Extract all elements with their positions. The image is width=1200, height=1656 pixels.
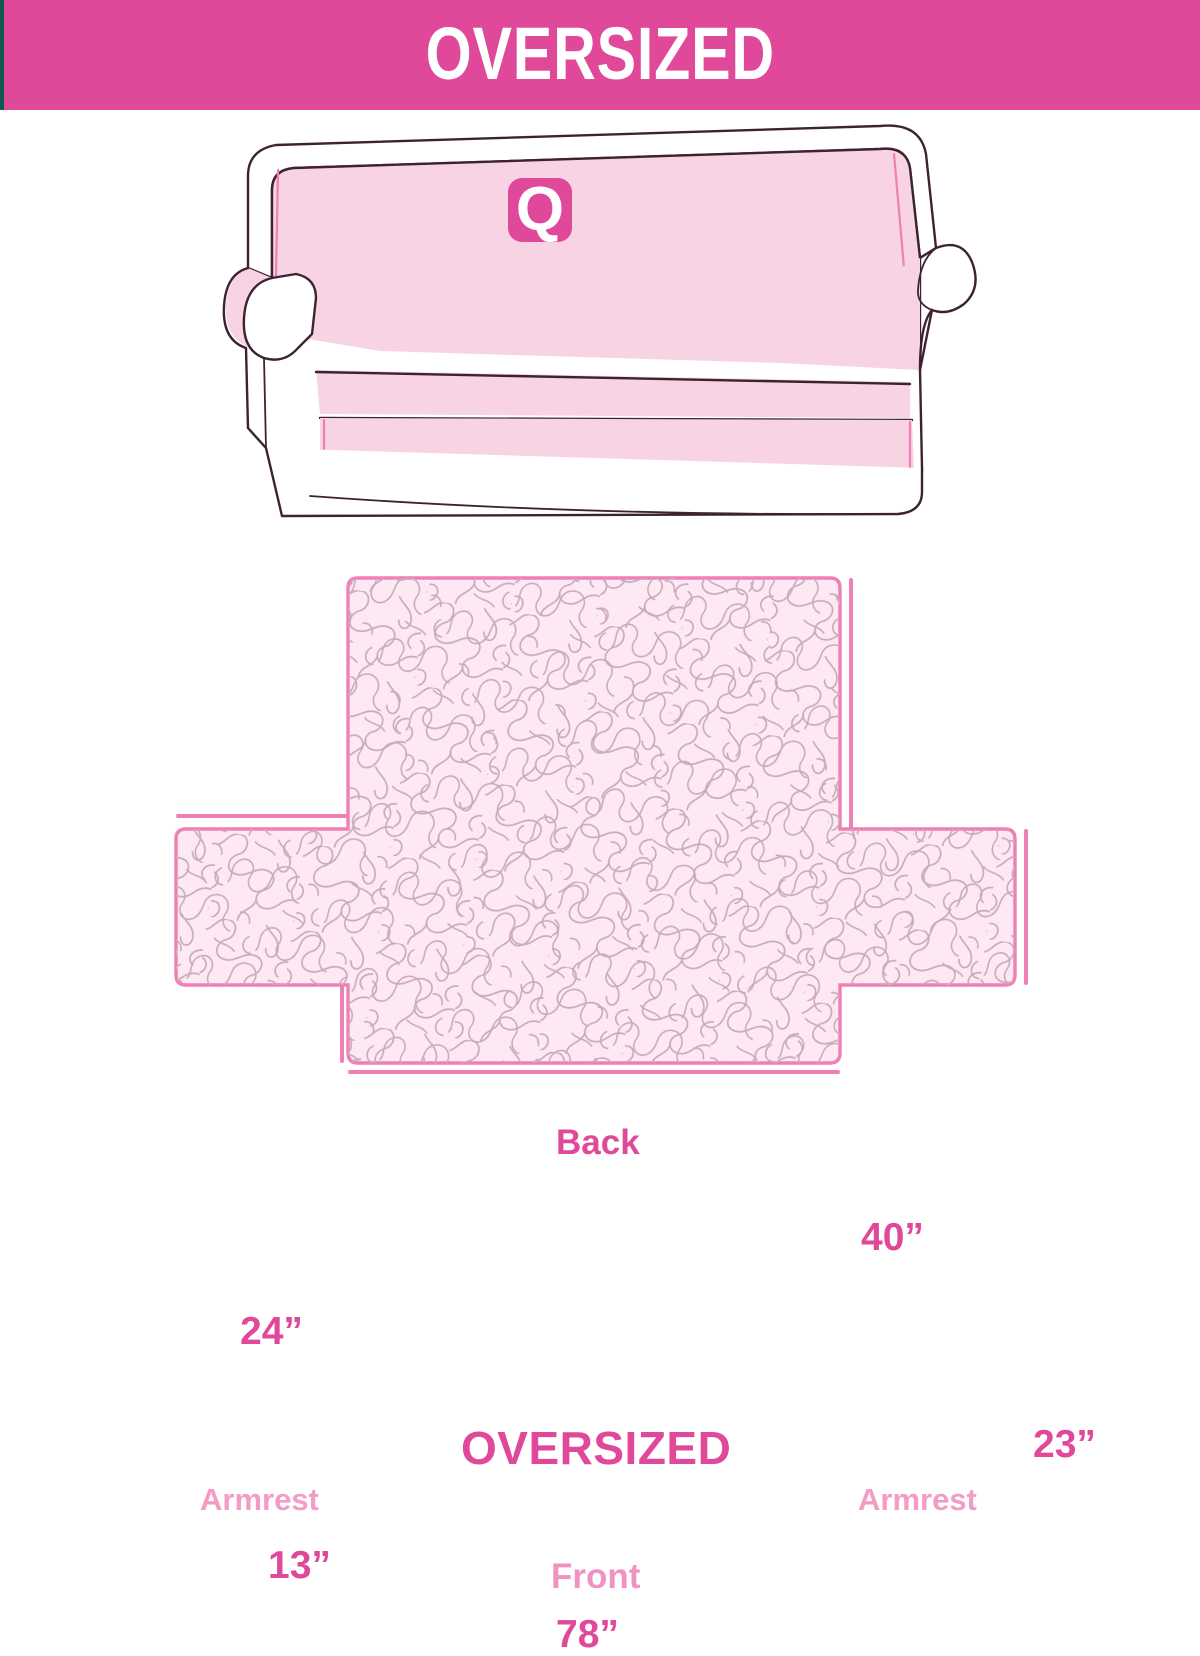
panel-label-front: Front: [551, 1559, 640, 1594]
sofa-arm-left-roll: [244, 274, 316, 360]
sofa-line-drawing: .ol{ fill:none; stroke:#3d2332; stroke-w…: [220, 118, 980, 518]
panel-label-center-size: OVERSIZED: [461, 1425, 731, 1471]
sofa-base-left: [248, 428, 266, 448]
panel-label-back: Back: [556, 1125, 640, 1160]
dimension-label-total-width: 78”: [556, 1615, 619, 1654]
header-banner: OVERSIZED: [0, 0, 1200, 110]
quilting-stipple-texture: [170, 572, 1022, 1070]
cover-shape-svg: [0, 540, 1200, 1120]
brand-logo-badge: Q: [508, 175, 572, 244]
dimension-label-armrest-width: 24”: [240, 1312, 303, 1351]
logo-letter-q: Q: [516, 175, 564, 244]
panel-label-armrest-left: Armrest: [200, 1484, 319, 1515]
cover-size-diagram: Back Armrest OVERSIZED Armrest Front 40”…: [0, 540, 1200, 1120]
cover-outline-group: [170, 572, 1022, 1070]
banner-left-edge-accent: [0, 0, 4, 110]
dimension-label-back-depth: 40”: [861, 1218, 924, 1257]
dimension-label-armrest-height: 23”: [1033, 1425, 1096, 1464]
sofa-backrest-cover: [272, 149, 920, 370]
sofa-arm-left-inner-line: [264, 358, 266, 448]
dimension-label-front-depth: 13”: [268, 1546, 331, 1585]
panel-label-armrest-right: Armrest: [858, 1484, 977, 1515]
sofa-illustration: .ol{ fill:none; stroke:#3d2332; stroke-w…: [0, 118, 1200, 518]
page-title: OVERSIZED: [425, 17, 774, 91]
